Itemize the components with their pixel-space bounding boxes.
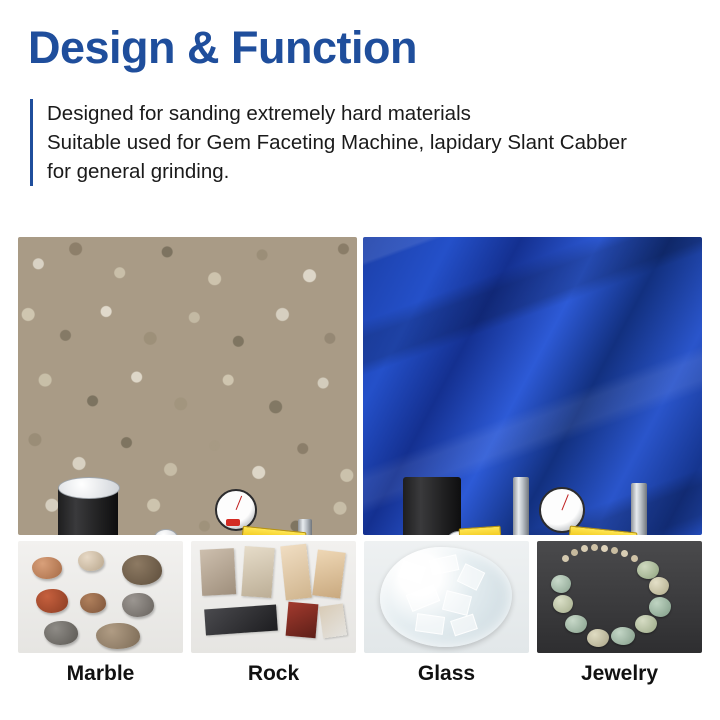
necklace-bead	[621, 550, 628, 557]
page-title: Design & Function	[28, 22, 417, 74]
necklace-bead	[631, 555, 638, 562]
product-feature-graphic: Design & Function Designed for sanding e…	[0, 0, 720, 720]
product-photo-row: Facetron Facetron	[18, 237, 702, 535]
product-photo-blue: Facetron Facetron	[363, 237, 702, 535]
rock-slab	[204, 605, 278, 636]
motor-housing	[403, 477, 461, 535]
glass-shard	[415, 613, 445, 635]
header: Design & Function Designed for sanding e…	[0, 0, 720, 212]
gem-stone	[635, 615, 657, 633]
pebble	[36, 589, 68, 613]
chrome-post	[631, 483, 647, 535]
feature-bullet: Designed for sanding extremely hard mate…	[47, 99, 647, 128]
jewelry-photo	[537, 541, 702, 653]
gem-stone	[553, 595, 573, 613]
material-label: Glass	[364, 662, 529, 686]
product-photo-gravel: Facetron Facetron	[18, 237, 357, 535]
rock-slab	[241, 546, 274, 598]
necklace-bead	[581, 545, 588, 552]
pebble	[96, 623, 140, 649]
pebble	[80, 593, 106, 613]
pebble	[122, 555, 162, 585]
gem-stone	[649, 597, 671, 617]
pebble	[78, 551, 104, 571]
rock-slab	[286, 602, 319, 638]
motor-cap	[58, 477, 120, 499]
rock-slab	[312, 549, 345, 598]
rock-photo	[191, 541, 356, 653]
gem-stone	[587, 629, 609, 647]
necklace-bead	[611, 547, 618, 554]
rock-slab	[280, 544, 312, 600]
material-label: Rock	[191, 662, 356, 686]
material-cell-marble: Marble	[18, 541, 183, 686]
rock-slab	[200, 548, 236, 596]
material-cell-glass: Glass	[364, 541, 529, 686]
rock-slab	[319, 603, 347, 638]
vertical-slide	[513, 477, 529, 535]
gem-stone	[565, 615, 587, 633]
material-label: Jewelry	[537, 662, 702, 686]
feature-bullets: Designed for sanding extremely hard mate…	[30, 99, 647, 186]
gem-stone	[649, 577, 669, 595]
necklace-bead	[601, 545, 608, 552]
material-label: Marble	[18, 662, 183, 686]
pebble	[44, 621, 78, 645]
dop-arm	[459, 526, 502, 535]
necklace-bead	[591, 544, 598, 551]
material-cell-jewelry: Jewelry	[537, 541, 702, 686]
material-samples-row: Marble Rock	[18, 541, 702, 686]
necklace-bead	[571, 549, 578, 556]
necklace-bead	[562, 555, 569, 562]
gem-stone	[551, 575, 571, 593]
gem-stone	[611, 627, 635, 645]
pebble	[32, 557, 62, 579]
dial-indicator-label	[226, 519, 240, 526]
pebble	[122, 593, 154, 617]
material-cell-rock: Rock	[191, 541, 356, 686]
glass-photo	[364, 541, 529, 653]
feature-bullet: Suitable used for Gem Faceting Machine, …	[47, 128, 647, 186]
marble-photo	[18, 541, 183, 653]
